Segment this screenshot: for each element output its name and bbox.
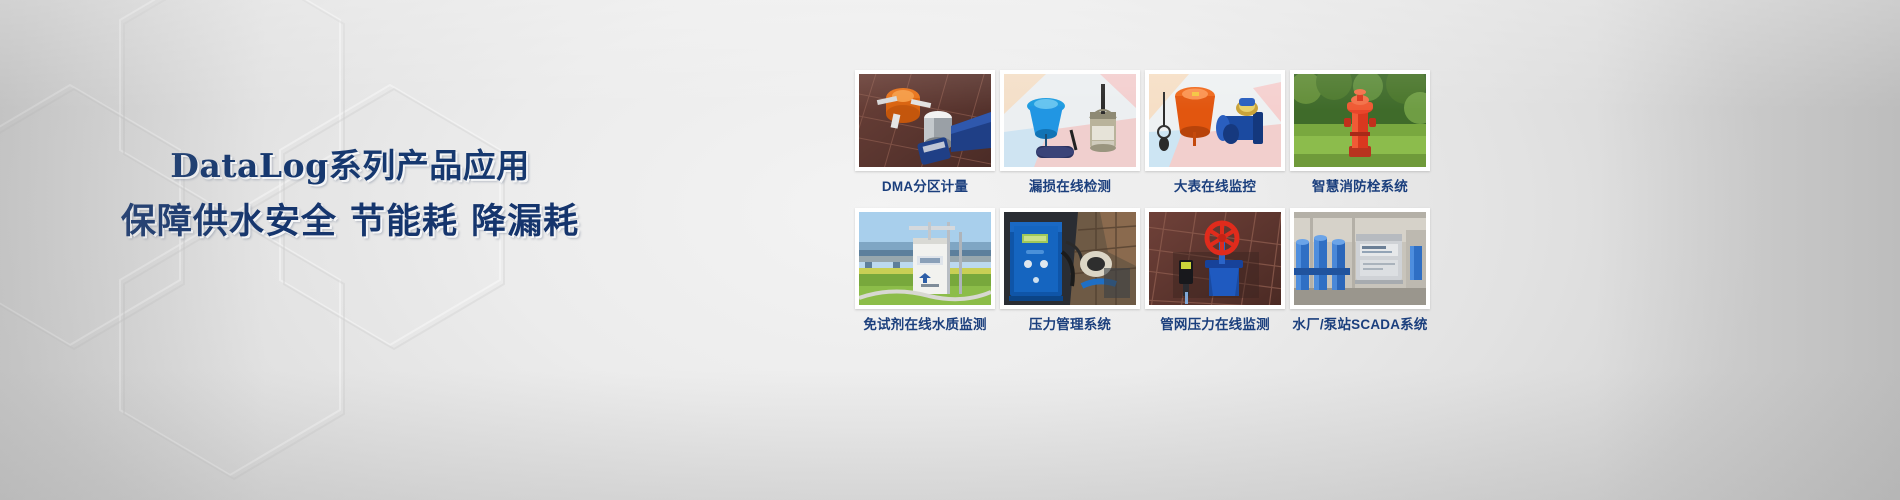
pipe-network-pressure-monitoring-photo [1149,212,1281,305]
product-caption: 压力管理系统 [1029,318,1111,332]
leak-detection-logger-photo [1004,74,1136,167]
product-card[interactable]: 免试剂在线水质监测 [855,208,995,332]
product-thumbnail[interactable] [1000,208,1140,309]
dma-flow-meter-chamber-photo [859,74,991,167]
waterworks-pump-station-scada-photo [1294,212,1426,305]
product-grid: DMA分区计量 [855,70,1430,331]
product-thumbnail[interactable] [1145,208,1285,309]
reagent-free-water-quality-station-photo [859,212,991,305]
headline-line-2: 保障供水安全 节能耗 降漏耗 [0,205,700,240]
product-thumbnail[interactable] [1000,70,1140,171]
product-card[interactable]: 压力管理系统 [1000,208,1140,332]
smart-fire-hydrant-photo [1294,74,1426,167]
product-card[interactable]: 管网压力在线监测 [1145,208,1285,332]
promo-banner: DataLog系列产品应用 保障供水安全 节能耗 降漏耗 [0,0,1900,500]
product-caption: DMA分区计量 [882,180,968,194]
product-thumbnail[interactable] [855,70,995,171]
product-thumbnail[interactable] [1290,208,1430,309]
product-card[interactable]: DMA分区计量 [855,70,995,194]
pressure-management-system-photo [1004,212,1136,305]
product-caption: 管网压力在线监测 [1160,318,1270,332]
product-caption: 免试剂在线水质监测 [863,318,986,332]
hexagon-watermark [0,0,760,500]
product-card[interactable]: 漏损在线检测 [1000,70,1140,194]
product-card[interactable]: 智慧消防栓系统 [1290,70,1430,194]
product-thumbnail[interactable] [855,208,995,309]
product-thumbnail[interactable] [1145,70,1285,171]
headline-block: DataLog系列产品应用 保障供水安全 节能耗 降漏耗 [0,149,700,240]
headline-line-1: DataLog系列产品应用 [0,149,700,182]
product-caption: 漏损在线检测 [1029,180,1111,194]
product-thumbnail[interactable] [1290,70,1430,171]
product-caption: 智慧消防栓系统 [1312,180,1408,194]
product-card[interactable]: 水厂/泵站SCADA系统 [1290,208,1430,332]
product-card[interactable]: 大表在线监控 [1145,70,1285,194]
product-caption: 水厂/泵站SCADA系统 [1292,318,1427,332]
product-caption: 大表在线监控 [1174,180,1256,194]
large-meter-monitoring-photo [1149,74,1281,167]
